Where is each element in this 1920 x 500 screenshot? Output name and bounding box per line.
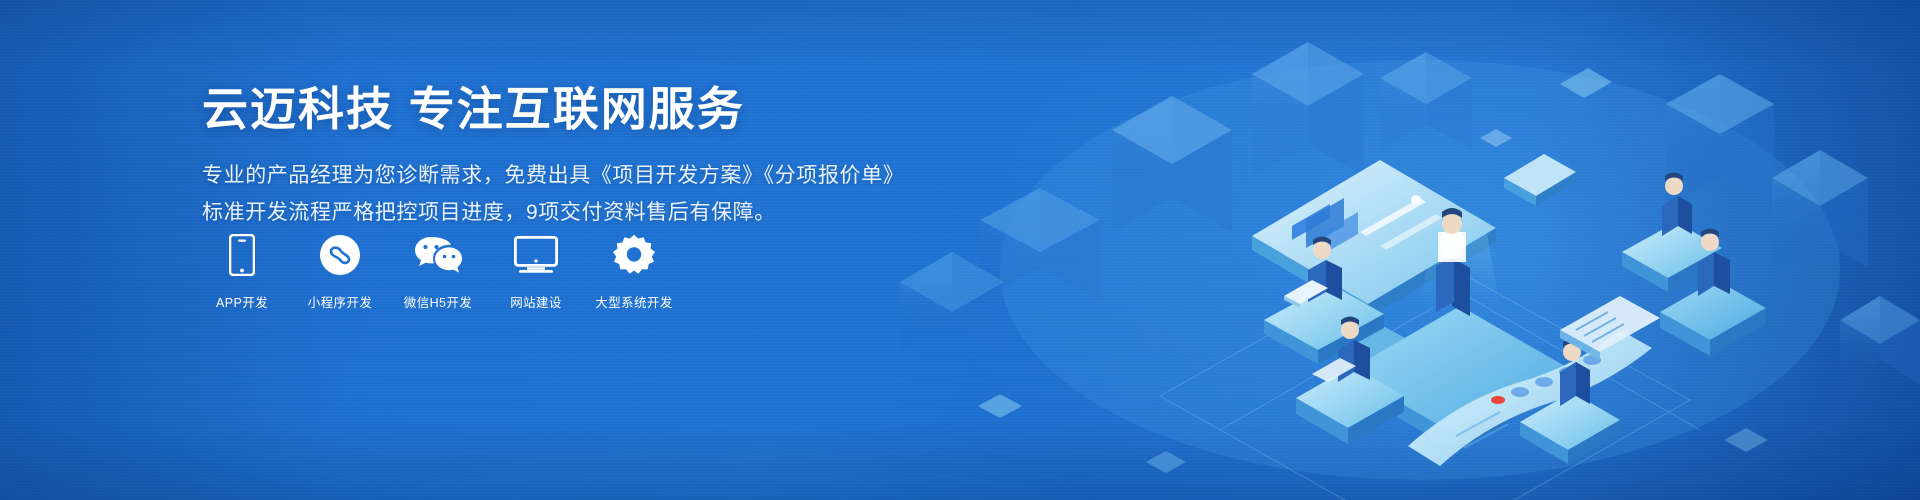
- promo-banner: 云迈科技 专注互联网服务 专业的产品经理为您诊断需求，免费出具《项目开发方案》《…: [0, 0, 1920, 500]
- service-label-app: APP开发: [216, 292, 268, 311]
- service-icon-row: APP开发 小程序开发 微信: [206, 232, 670, 311]
- mini-program-icon: [319, 232, 361, 278]
- service-item-miniprogram[interactable]: 小程序开发: [304, 232, 376, 311]
- service-item-large-system[interactable]: 大型系统开发: [598, 232, 670, 311]
- service-item-wechat-h5[interactable]: 微信H5开发: [402, 232, 474, 311]
- wechat-icon: [414, 232, 462, 278]
- banner-subtitle: 专业的产品经理为您诊断需求，免费出具《项目开发方案》《分项报价单》 标准开发流程…: [202, 158, 962, 232]
- subtitle-line-2: 标准开发流程严格把控项目进度，9项交付资料售后有保障。: [202, 195, 962, 232]
- service-label-wechat-h5: 微信H5开发: [404, 292, 472, 311]
- service-item-website[interactable]: 网站建设: [500, 232, 572, 311]
- monitor-icon: [514, 232, 558, 278]
- service-label-miniprogram: 小程序开发: [308, 292, 373, 311]
- subtitle-line-1: 专业的产品经理为您诊断需求，免费出具《项目开发方案》《分项报价单》: [202, 158, 962, 195]
- service-label-website: 网站建设: [510, 292, 562, 311]
- service-label-large-system: 大型系统开发: [595, 292, 672, 311]
- mobile-phone-icon: [229, 232, 255, 278]
- gear-icon: [613, 232, 655, 278]
- banner-content: 云迈科技 专注互联网服务 专业的产品经理为您诊断需求，免费出具《项目开发方案》《…: [202, 82, 962, 232]
- isometric-tech-team-illustration: [860, 0, 1920, 500]
- service-item-app[interactable]: APP开发: [206, 232, 278, 311]
- page-title: 云迈科技 专注互联网服务: [202, 82, 962, 136]
